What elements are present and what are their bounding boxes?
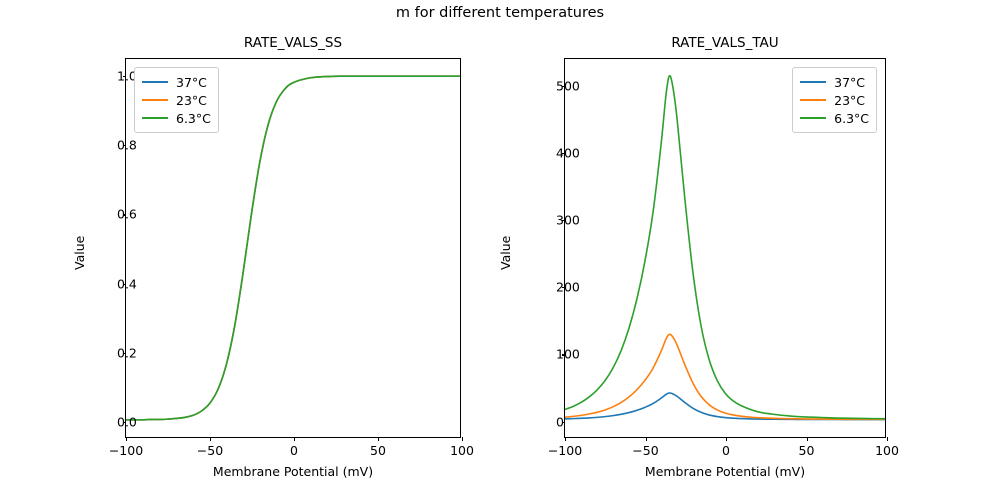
x-tick-label: 0 (290, 443, 298, 458)
legend-item[interactable]: 6.3°C (800, 109, 869, 127)
legend-label: 23°C (176, 93, 207, 108)
x-axis-label: Membrane Potential (mV) (565, 464, 885, 479)
x-tick-label: −50 (197, 443, 223, 458)
x-tick-label: −50 (632, 443, 658, 458)
x-tick-label: 100 (875, 443, 899, 458)
legend-color-swatch (800, 117, 826, 119)
legend-label: 23°C (834, 93, 865, 108)
x-tick (378, 437, 379, 441)
x-tick (565, 437, 566, 441)
x-tick-label: 100 (450, 443, 474, 458)
legend-color-swatch (800, 99, 826, 101)
legend-label: 37°C (176, 75, 207, 90)
series-line-23C (565, 334, 885, 419)
x-tick (462, 437, 463, 441)
legend-item[interactable]: 6.3°C (142, 109, 211, 127)
legend-label: 37°C (834, 75, 865, 90)
axes-right-ylabel: Value (498, 236, 513, 270)
legend-item[interactable]: 37°C (800, 73, 869, 91)
legend-item[interactable]: 23°C (142, 91, 211, 109)
x-tick-label: −100 (548, 443, 582, 458)
legend-color-swatch (800, 81, 826, 83)
legend-item[interactable]: 23°C (800, 91, 869, 109)
x-tick-label: 0 (722, 443, 730, 458)
legend-label: 6.3°C (176, 111, 211, 126)
x-tick (294, 437, 295, 441)
axes-rate-vals-tau: RATE_VALS_TAU −100−500501000100200300400… (564, 58, 886, 438)
x-tick (807, 437, 808, 441)
x-tick-label: 50 (799, 443, 815, 458)
legend-color-swatch (142, 99, 168, 101)
x-axis-label: Membrane Potential (mV) (126, 464, 460, 479)
axes-left-ylabel: Value (72, 236, 87, 270)
x-tick (646, 437, 647, 441)
legend-label: 6.3°C (834, 111, 869, 126)
matplotlib-figure: m for different temperatures RATE_VALS_S… (0, 0, 1000, 500)
x-tick (887, 437, 888, 441)
legend-color-swatch (142, 81, 168, 83)
axes-right-title: RATE_VALS_TAU (565, 35, 885, 51)
x-tick (126, 437, 127, 441)
x-tick-label: 50 (370, 443, 386, 458)
x-tick (210, 437, 211, 441)
legend-item[interactable]: 37°C (142, 73, 211, 91)
axes-rate-vals-ss: RATE_VALS_SS −100−500501000.00.20.40.60.… (125, 58, 461, 438)
legend-color-swatch (142, 117, 168, 119)
legend[interactable]: 37°C23°C6.3°C (792, 67, 877, 133)
x-tick (726, 437, 727, 441)
figure-suptitle: m for different temperatures (0, 5, 1000, 21)
axes-left-title: RATE_VALS_SS (126, 35, 460, 51)
x-tick-label: −100 (109, 443, 143, 458)
legend[interactable]: 37°C23°C6.3°C (134, 67, 219, 133)
